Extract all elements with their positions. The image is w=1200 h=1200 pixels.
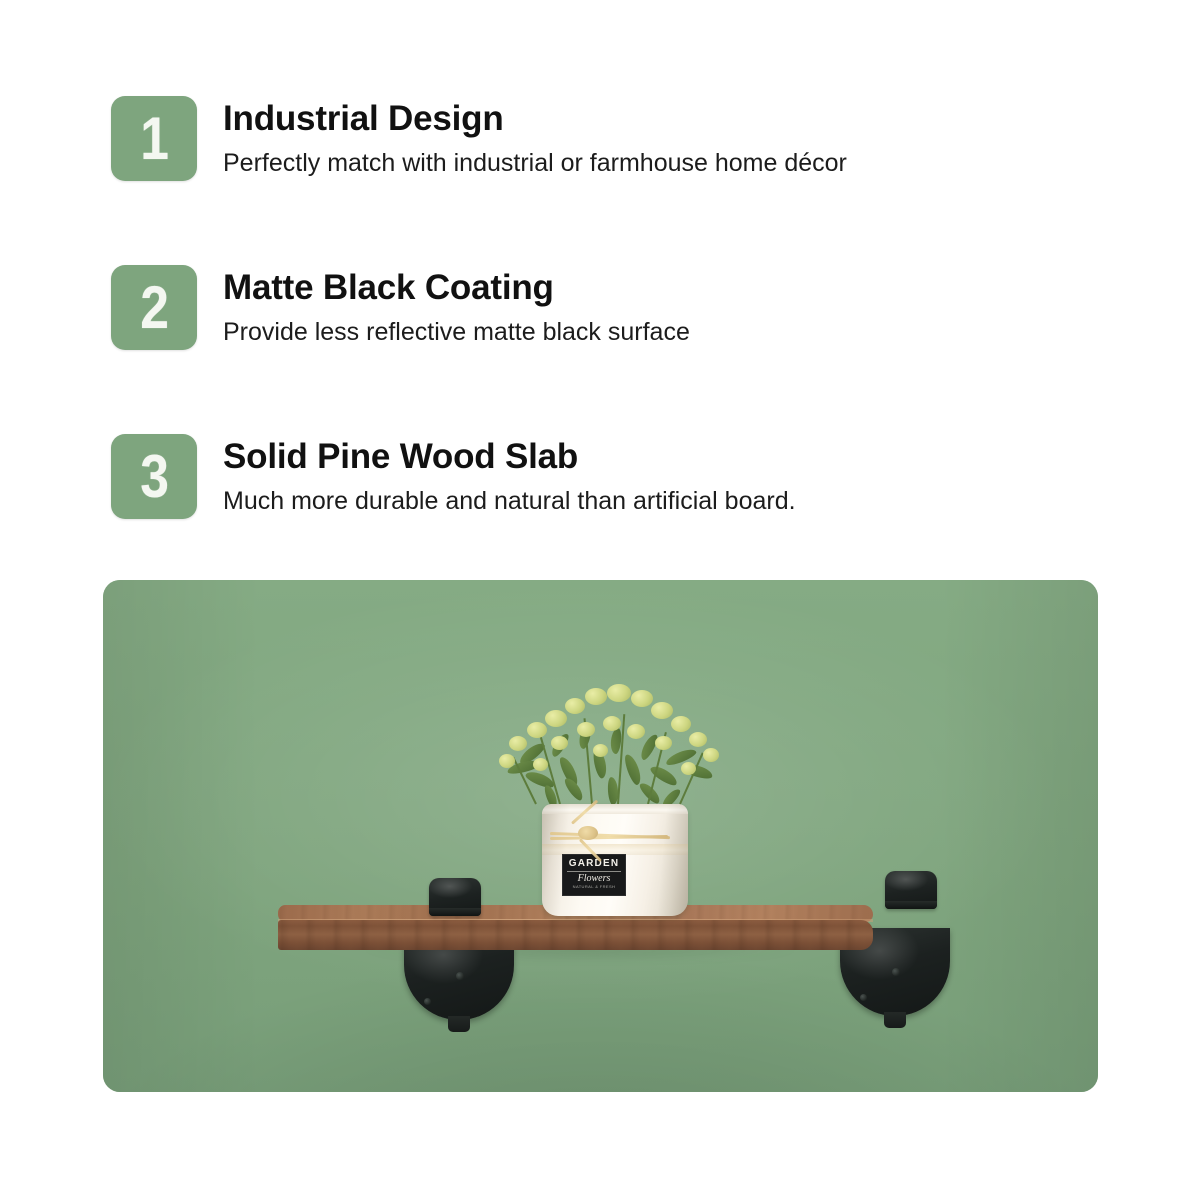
- flower-cluster: [607, 684, 631, 702]
- flower-cluster: [671, 716, 691, 732]
- feature-number-3: 3: [140, 447, 168, 507]
- feature-list: 1 Industrial Design Perfectly match with…: [111, 96, 1111, 603]
- pipe-cap-rim-right: [885, 901, 937, 909]
- flower-cluster: [603, 716, 621, 731]
- pipe-cap-rim-left: [429, 908, 481, 916]
- pipe-cap-right: [885, 871, 937, 909]
- twine-strand: [550, 835, 668, 840]
- feature-subtitle-3: Much more durable and natural than artif…: [223, 486, 796, 516]
- pot-label-subtitle: NATURAL & FRESH: [573, 884, 616, 890]
- flower-cluster: [651, 702, 673, 719]
- flower-cluster: [499, 754, 515, 768]
- flower-cluster: [545, 710, 567, 727]
- flower-cluster: [689, 732, 707, 747]
- feature-subtitle-2: Provide less reflective matte black surf…: [223, 317, 690, 347]
- potted-plant: GARDEN Flowers NATURAL & FRESH: [499, 674, 729, 919]
- screw-hole-icon: [456, 972, 464, 980]
- pot-label-divider: [567, 871, 621, 872]
- feature-item-3: 3 Solid Pine Wood Slab Much more durable…: [111, 434, 1111, 519]
- feature-number-badge-3: 3: [111, 434, 197, 519]
- screw-hole-icon: [860, 994, 867, 1001]
- feature-item-1: 1 Industrial Design Perfectly match with…: [111, 96, 1111, 181]
- ceramic-pot: GARDEN Flowers NATURAL & FRESH: [542, 804, 688, 916]
- flower-cluster: [565, 698, 585, 714]
- flower-cluster: [627, 724, 645, 739]
- feature-text-block-1: Industrial Design Perfectly match with i…: [197, 96, 847, 178]
- feature-number-badge-1: 1: [111, 96, 197, 181]
- feature-text-block-3: Solid Pine Wood Slab Much more durable a…: [197, 434, 796, 516]
- shelf-assembly: GARDEN Flowers NATURAL & FRESH: [103, 580, 1098, 1092]
- flower-cluster: [577, 722, 595, 737]
- feature-number-2: 2: [140, 278, 168, 338]
- shelf-front-edge: [278, 920, 873, 950]
- feature-title-3: Solid Pine Wood Slab: [223, 436, 796, 478]
- flower-cluster: [509, 736, 527, 751]
- flower-cluster: [681, 762, 696, 775]
- feature-text-block-2: Matte Black Coating Provide less reflect…: [197, 265, 690, 347]
- screw-hole-icon: [424, 998, 431, 1005]
- flower-cluster: [527, 722, 547, 738]
- flower-cluster: [593, 744, 608, 757]
- feature-title-2: Matte Black Coating: [223, 267, 690, 309]
- feature-title-1: Industrial Design: [223, 98, 847, 140]
- feature-subtitle-1: Perfectly match with industrial or farmh…: [223, 148, 847, 178]
- pipe-cap-left: [429, 878, 481, 916]
- plant-foliage: [499, 674, 729, 824]
- pipe-nipple-left: [448, 1016, 470, 1032]
- flower-cluster: [533, 758, 548, 771]
- pot-label-script: Flowers: [578, 873, 611, 884]
- twine-knot: [578, 826, 598, 840]
- pipe-nipple-right: [884, 1012, 906, 1028]
- feature-item-2: 2 Matte Black Coating Provide less refle…: [111, 265, 1111, 350]
- flower-cluster: [631, 690, 653, 707]
- flower-cluster: [585, 688, 607, 705]
- flower-cluster: [551, 736, 568, 750]
- pot-label: GARDEN Flowers NATURAL & FRESH: [562, 854, 626, 896]
- raffia-twine: [550, 820, 670, 850]
- feature-number-1: 1: [140, 109, 168, 169]
- flower-cluster: [655, 736, 672, 750]
- feature-number-badge-2: 2: [111, 265, 197, 350]
- pot-label-title: GARDEN: [569, 858, 620, 869]
- screw-hole-icon: [892, 968, 900, 976]
- product-photo: GARDEN Flowers NATURAL & FRESH: [103, 580, 1098, 1092]
- shelf-wall-shadow: [281, 948, 879, 974]
- flower-cluster: [703, 748, 719, 762]
